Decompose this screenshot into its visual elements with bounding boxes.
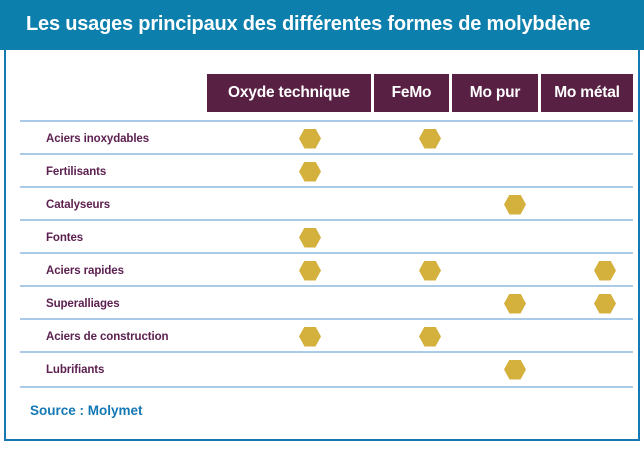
table-row: Fertilisants	[20, 153, 633, 188]
hexagon-marker-icon	[594, 294, 616, 314]
column-header-femo: FeMo	[374, 74, 449, 112]
row-label: Fontes	[46, 221, 83, 254]
column-header-mo-metal: Mo métal	[541, 74, 633, 112]
hexagon-marker-icon	[299, 228, 321, 248]
row-label: Superalliages	[46, 287, 119, 320]
column-header-oxyde-technique: Oxyde technique	[207, 74, 371, 112]
row-label: Lubrifiants	[46, 353, 104, 386]
row-label: Aciers de construction	[46, 320, 168, 353]
table-row: Lubrifiants	[20, 351, 633, 388]
row-label: Fertilisants	[46, 155, 106, 188]
hexagon-marker-icon	[419, 327, 441, 347]
hexagon-marker-icon	[594, 261, 616, 281]
table-row: Aciers inoxydables	[20, 120, 633, 155]
hexagon-marker-icon	[419, 129, 441, 149]
table-row: Catalyseurs	[20, 186, 633, 221]
molybdenum-uses-infographic: Les usages principaux des différentes fo…	[0, 0, 644, 449]
hexagon-marker-icon	[419, 261, 441, 281]
hexagon-marker-icon	[299, 129, 321, 149]
table-row: Superalliages	[20, 285, 633, 320]
row-label: Aciers rapides	[46, 254, 124, 287]
table-row: Fontes	[20, 219, 633, 254]
hexagon-marker-icon	[504, 195, 526, 215]
hexagon-marker-icon	[299, 162, 321, 182]
table-row: Aciers de construction	[20, 318, 633, 353]
row-label: Catalyseurs	[46, 188, 110, 221]
row-label: Aciers inoxydables	[46, 122, 149, 155]
page-title: Les usages principaux des différentes fo…	[26, 0, 590, 50]
table-row: Aciers rapides	[20, 252, 633, 287]
title-bar: Les usages principaux des différentes fo…	[0, 0, 644, 50]
source-note: Source : Molymet	[30, 403, 143, 418]
hexagon-marker-icon	[504, 360, 526, 380]
hexagon-marker-icon	[504, 294, 526, 314]
column-header-mo-pur: Mo pur	[452, 74, 538, 112]
hexagon-marker-icon	[299, 261, 321, 281]
hexagon-marker-icon	[299, 327, 321, 347]
